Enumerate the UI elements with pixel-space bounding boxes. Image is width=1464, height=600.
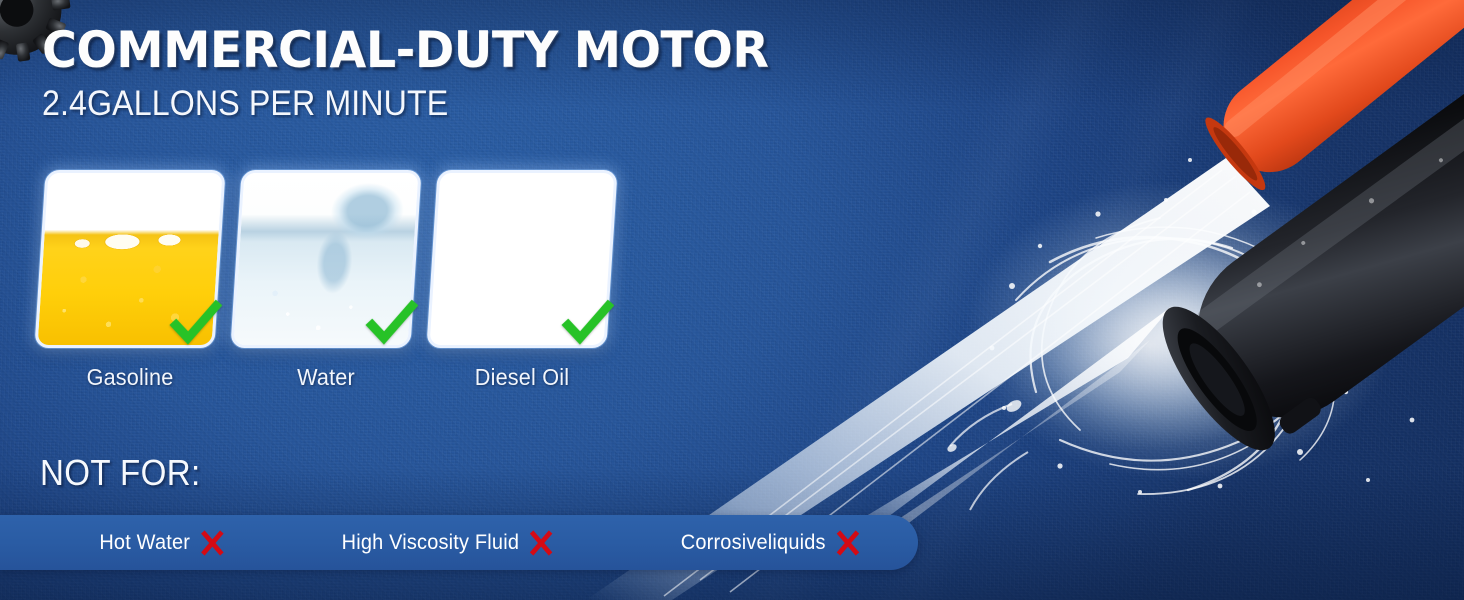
promo-banner: COMMERCIAL-DUTY MOTOR 2.4GALLONS PER MIN… (0, 0, 1464, 600)
fluid-card-diesel-oil[interactable]: Diesel Oil (432, 170, 612, 391)
fluid-card-water[interactable]: Water (236, 170, 416, 391)
headline-block: COMMERCIAL-DUTY MOTOR 2.4GALLONS PER MIN… (42, 24, 807, 124)
not-for-item-label: Hot Water (99, 531, 190, 555)
not-for-bar: Hot Water High Viscosity Fluid Corrosive… (0, 515, 918, 570)
not-for-item-label: High Viscosity Fluid (342, 531, 520, 555)
page-title: COMMERCIAL-DUTY MOTOR (42, 24, 768, 76)
page-subtitle: 2.4GALLONS PER MINUTE (42, 84, 745, 124)
check-icon (559, 297, 614, 349)
check-icon (363, 297, 418, 349)
x-icon (834, 529, 861, 557)
card-frame (426, 170, 617, 348)
not-for-item-label: Corrosiveliquids (681, 531, 826, 555)
not-for-item-hot-water: Hot Water (99, 529, 225, 557)
fluid-card-label: Diesel Oil (437, 364, 606, 391)
fluid-card-label: Water (241, 364, 410, 391)
not-for-item-high-viscosity-fluid: High Viscosity Fluid (342, 529, 555, 557)
x-icon (528, 529, 555, 557)
check-icon (167, 297, 222, 349)
fluid-card-label: Gasoline (45, 364, 214, 391)
fluid-card-gasoline[interactable]: Gasoline (40, 170, 220, 391)
not-for-item-corrosive-liquids: Corrosiveliquids (681, 529, 861, 557)
not-for-heading: NOT FOR: (40, 452, 201, 494)
card-frame (34, 170, 225, 348)
x-icon (199, 529, 226, 557)
card-frame (230, 170, 421, 348)
compatible-fluids-list: Gasoline Water Diesel (40, 170, 612, 391)
